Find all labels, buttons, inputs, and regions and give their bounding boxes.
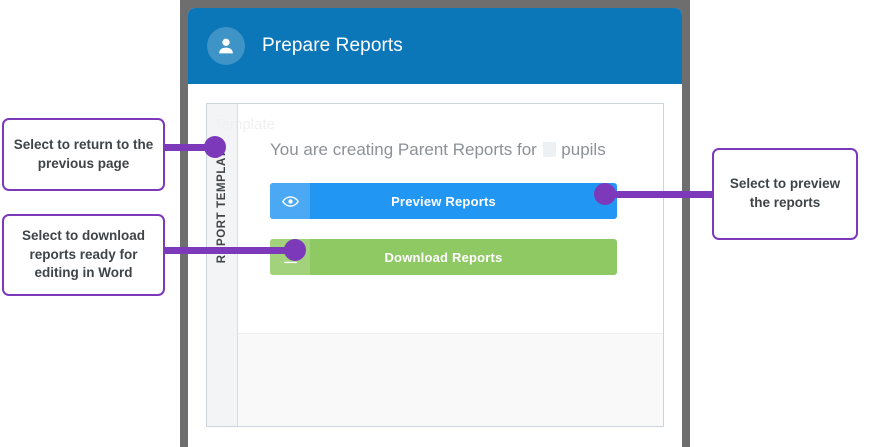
connector-dot-preview xyxy=(594,183,616,205)
page-title: Prepare Reports xyxy=(262,35,403,57)
connector-line-preview xyxy=(601,191,716,198)
background-ghost-text: Template xyxy=(214,116,275,133)
application-window: Prepare Reports REPORT TEMPLATE Template… xyxy=(180,0,690,447)
panel-lower-shade xyxy=(238,333,663,426)
connector-dot-download xyxy=(284,239,306,261)
connector-line-download xyxy=(161,247,299,254)
callout-download-reports: Select to download reports ready for edi… xyxy=(2,214,165,296)
panel-body: Template You are creating Parent Reports… xyxy=(238,104,663,426)
eye-icon xyxy=(270,183,310,219)
download-reports-button[interactable]: Download Reports xyxy=(270,239,617,275)
preview-reports-button[interactable]: Preview Reports xyxy=(270,183,617,219)
download-reports-label: Download Reports xyxy=(310,250,617,265)
headline-text: You are creating Parent Reports for pupi… xyxy=(270,140,606,160)
headline-prefix: You are creating Parent Reports for xyxy=(270,140,537,159)
headline-suffix: pupils xyxy=(561,140,605,159)
pupil-count-redacted xyxy=(543,142,556,157)
connector-dot-back xyxy=(204,136,226,158)
callout-preview-reports: Select to preview the reports xyxy=(712,148,858,240)
screenshot-stage: Prepare Reports REPORT TEMPLATE Template… xyxy=(0,0,870,447)
title-bar: Prepare Reports xyxy=(188,8,682,84)
person-icon xyxy=(207,27,245,65)
report-panel: REPORT TEMPLATE Template You are creatin… xyxy=(206,103,664,427)
tab-report-template-label: REPORT TEMPLATE xyxy=(216,142,228,263)
application-card: Prepare Reports REPORT TEMPLATE Template… xyxy=(188,8,682,447)
callout-return-previous-page: Select to return to the previous page xyxy=(2,118,165,191)
content-area: REPORT TEMPLATE Template You are creatin… xyxy=(188,84,682,447)
preview-reports-label: Preview Reports xyxy=(310,194,617,209)
